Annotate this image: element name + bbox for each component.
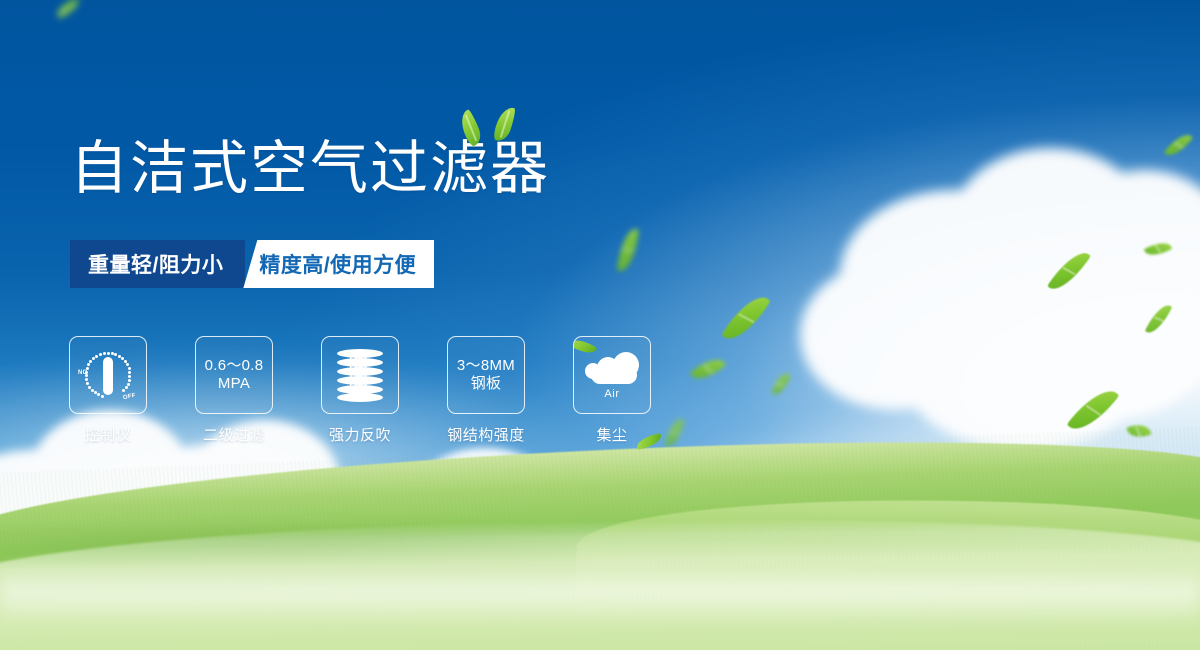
gauge-tick-dot (85, 378, 88, 381)
feature-label-blowback: 强力反吹 (329, 424, 391, 445)
control-gauge-icon: NO OFF (79, 348, 137, 402)
gauge-tick-dot (128, 371, 131, 374)
gauge-off-label: OFF (123, 393, 137, 402)
gauge-tick-dot (122, 389, 125, 392)
feature-tile-control-gauge[interactable]: NO OFF (69, 336, 147, 414)
cloud-blob (585, 363, 601, 379)
air-label: Air (604, 388, 619, 400)
feature-label-steel-plate: 钢结构强度 (447, 424, 525, 445)
feature-list: NO OFF 控制仪 0.6～0.8 MPA 二级过滤 (70, 336, 650, 445)
gauge-tick-dot (85, 374, 88, 377)
coil-ring (337, 349, 383, 358)
coil-ring (337, 393, 383, 402)
gauge-tick-dot (111, 352, 114, 355)
gauge-tick-dot (114, 353, 117, 356)
steel-material: 钢板 (457, 375, 515, 393)
feature-tile-steel-plate[interactable]: 3～8MM 钢板 (447, 336, 525, 414)
grass-field (0, 410, 1200, 650)
feature-label-dust-collect: 集尘 (596, 424, 627, 445)
gauge-tick-dot (128, 375, 131, 378)
steel-thickness: 3～8MM (457, 357, 515, 375)
feature-tile-blowback[interactable] (321, 336, 399, 414)
pressure-value: 0.6～0.8 (205, 357, 264, 375)
feature-tile-pressure[interactable]: 0.6～0.8 MPA (195, 336, 273, 414)
subtitle-bar: 重量轻/阻力小 精度高/使用方便 (70, 240, 434, 288)
gauge-tick-dot (107, 352, 110, 355)
gauge-tick-dot (87, 363, 90, 366)
gauge-tick-dot (99, 353, 102, 356)
gauge-tick-dot (97, 393, 100, 396)
gauge-tick-dot (128, 379, 131, 382)
sprout-icon (463, 104, 533, 148)
gauge-tick-dot (86, 367, 89, 370)
feature-label-control-gauge: 控制仪 (85, 424, 132, 445)
gauge-tick-dot (89, 360, 92, 363)
gauge-needle (103, 357, 113, 395)
gauge-tick-dot (126, 363, 129, 366)
coil-blowback-icon (337, 349, 383, 401)
coil-ring (337, 358, 383, 367)
gauge-tick-dot (95, 355, 98, 358)
pressure-text-icon: 0.6～0.8 MPA (205, 357, 264, 392)
title-block: 自洁式空气过滤器 (70, 140, 550, 198)
gauge-tick-dot (86, 382, 89, 385)
gauge-tick-dot (85, 371, 88, 374)
steel-plate-text-icon: 3～8MM 钢板 (457, 357, 515, 392)
feature-tile-dust-collect[interactable]: Air (573, 336, 651, 414)
feature-item-pressure[interactable]: 0.6～0.8 MPA 二级过滤 (196, 336, 272, 445)
grass-highlight (0, 566, 1200, 624)
air-cloud-icon (585, 352, 639, 386)
gauge-tick-dot (125, 386, 128, 389)
gauge-tick-dot (91, 389, 94, 392)
gauge-tick-dot (88, 386, 91, 389)
coil-ring (337, 367, 383, 376)
feature-item-dust-collect[interactable]: Air 集尘 (574, 336, 650, 445)
subtitle-left: 重量轻/阻力小 (70, 240, 245, 288)
feature-item-blowback[interactable]: 强力反吹 (322, 336, 398, 445)
gauge-tick-dot (103, 352, 106, 355)
pressure-unit: MPA (205, 375, 264, 393)
sprout-leaf-right (492, 105, 517, 144)
feature-item-steel-plate[interactable]: 3～8MM 钢板 钢结构强度 (448, 336, 524, 445)
coil-ring (337, 376, 383, 385)
gauge-tick-dot (128, 367, 131, 370)
page-title: 自洁式空气过滤器 (70, 140, 550, 198)
feature-label-pressure: 二级过滤 (203, 424, 265, 445)
hero-banner: 自洁式空气过滤器 重量轻/阻力小 精度高/使用方便 NO OFF 控制仪 0.6… (0, 0, 1200, 650)
gauge-tick-dot (101, 395, 104, 398)
subtitle-right: 精度高/使用方便 (243, 240, 434, 288)
feature-item-control-gauge[interactable]: NO OFF 控制仪 (70, 336, 146, 445)
